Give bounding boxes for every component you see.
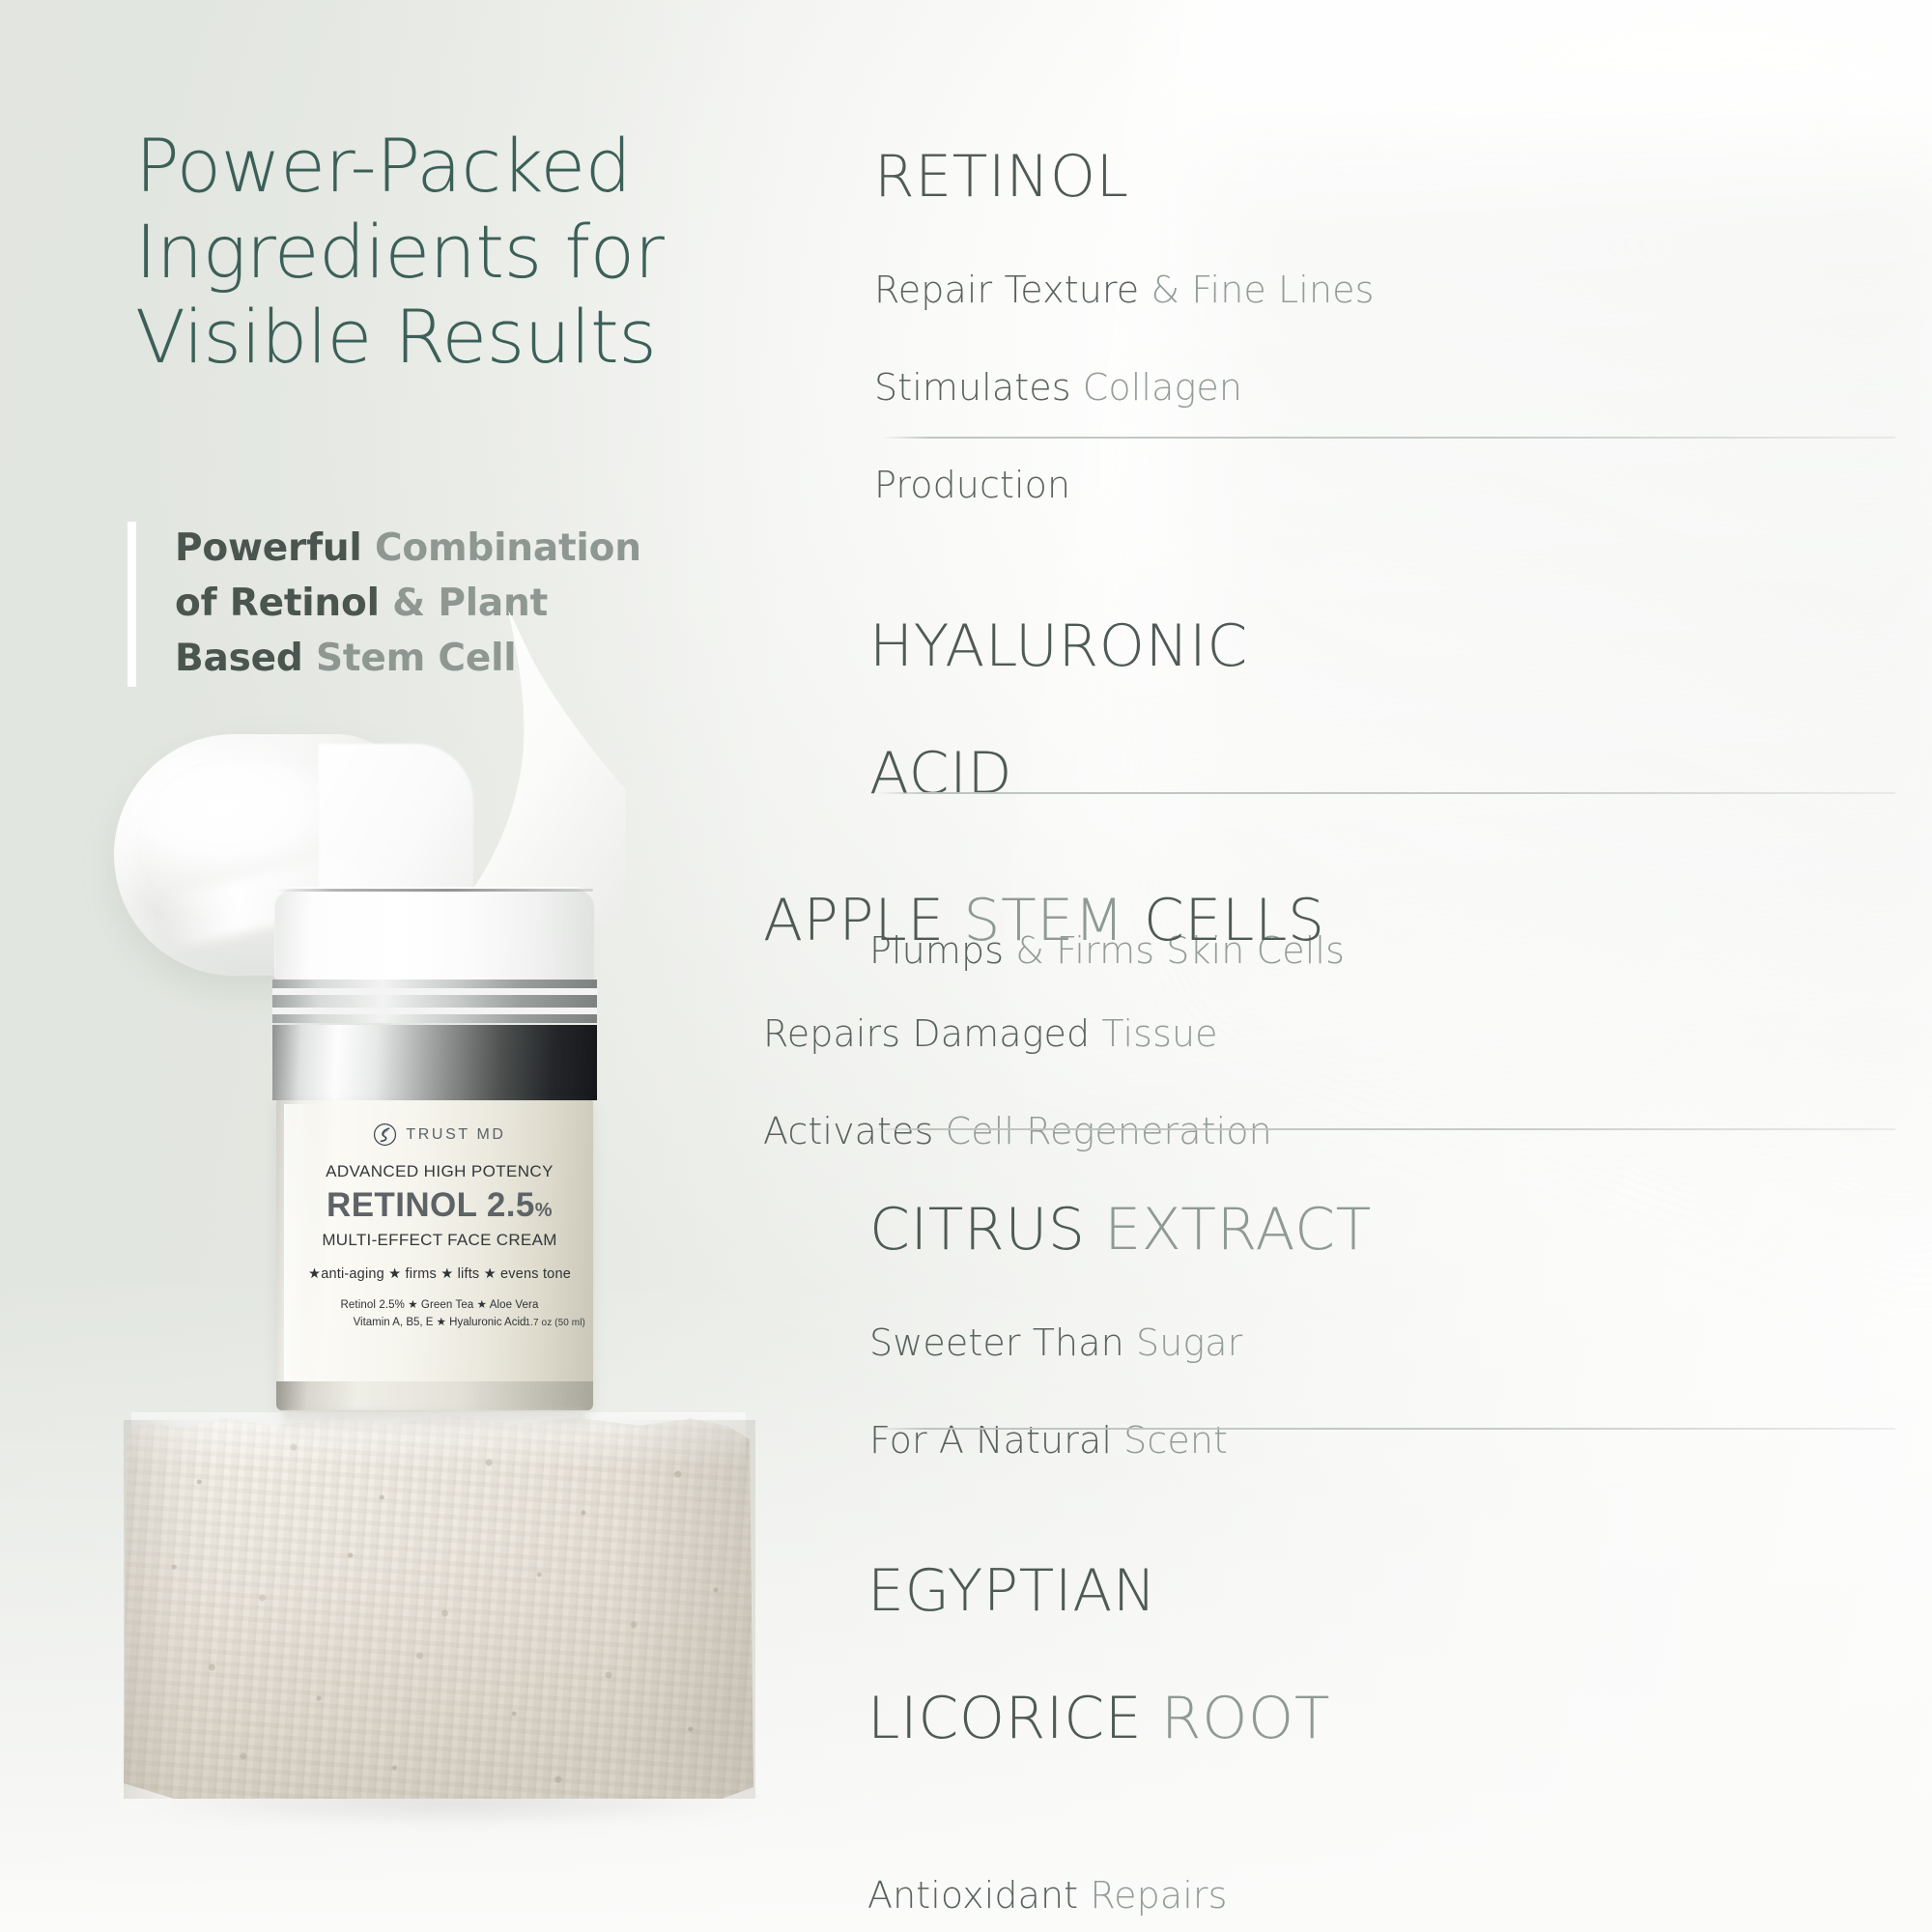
ingredient-desc-line-1: Antioxidant Repairs (867, 1871, 1896, 1920)
ingredient-desc-line-3: Production (874, 461, 1879, 510)
ingredient-description: Repairs Damaged Tissue Activates Cell Re… (763, 960, 1884, 1205)
divider-4 (874, 1428, 1895, 1430)
ingredient-description: Antioxidant Repairs Sun Damage (867, 1822, 1896, 1932)
infographic-canvas: Power-Packed Ingredients for Visible Res… (0, 0, 1932, 1932)
ingredients-list: RETINOL Repair Texture & Fine Lines Stim… (0, 0, 1932, 1932)
divider-1 (881, 437, 1895, 439)
ingredient-description: Repair Texture & Fine Lines Stimulates C… (874, 216, 1879, 558)
ingredient-title-line-2: LICORICE ROOT (867, 1687, 1896, 1750)
ingredient-title: RETINOL (874, 145, 1879, 209)
divider-2 (876, 792, 1895, 794)
ingredient-desc-line-1: Repair Texture & Fine Lines (874, 266, 1879, 315)
ingredient-desc-line-1: Sweeter Than Sugar (869, 1319, 1893, 1368)
ingredient-item-apple-stem-cells[interactable]: APPLE STEM CELLS Repairs Damaged Tissue … (763, 889, 1884, 1205)
ingredient-desc-line-1: Repairs Damaged Tissue (763, 1009, 1884, 1059)
ingredient-item-egyptian-licorice-root[interactable]: EGYPTIAN LICORICE ROOT Antioxidant Repai… (867, 1495, 1896, 1932)
ingredient-title: HYALURONIC ACID (869, 551, 1884, 869)
ingredient-title: APPLE STEM CELLS (763, 889, 1884, 952)
ingredient-item-retinol[interactable]: RETINOL Repair Texture & Fine Lines Stim… (874, 145, 1879, 558)
ingredient-title-line-1: HYALURONIC (869, 614, 1884, 678)
divider-3 (869, 1128, 1895, 1130)
ingredient-title-line-1: EGYPTIAN (867, 1559, 1896, 1623)
ingredient-title: CITRUS EXTRACT (869, 1198, 1893, 1262)
ingredient-title-line-2: ACID (869, 742, 1884, 806)
ingredient-desc-line-2: Stimulates Collagen (874, 363, 1879, 412)
ingredient-desc-line-2: For A Natural Scent (869, 1416, 1893, 1465)
ingredient-item-citrus-extract[interactable]: CITRUS EXTRACT Sweeter Than Sugar For A … (869, 1198, 1893, 1514)
ingredient-title: EGYPTIAN LICORICE ROOT (867, 1495, 1896, 1814)
ingredient-description: Sweeter Than Sugar For A Natural Scent (869, 1269, 1893, 1514)
ingredient-desc-line-2: Activates Cell Regeneration (763, 1107, 1884, 1156)
